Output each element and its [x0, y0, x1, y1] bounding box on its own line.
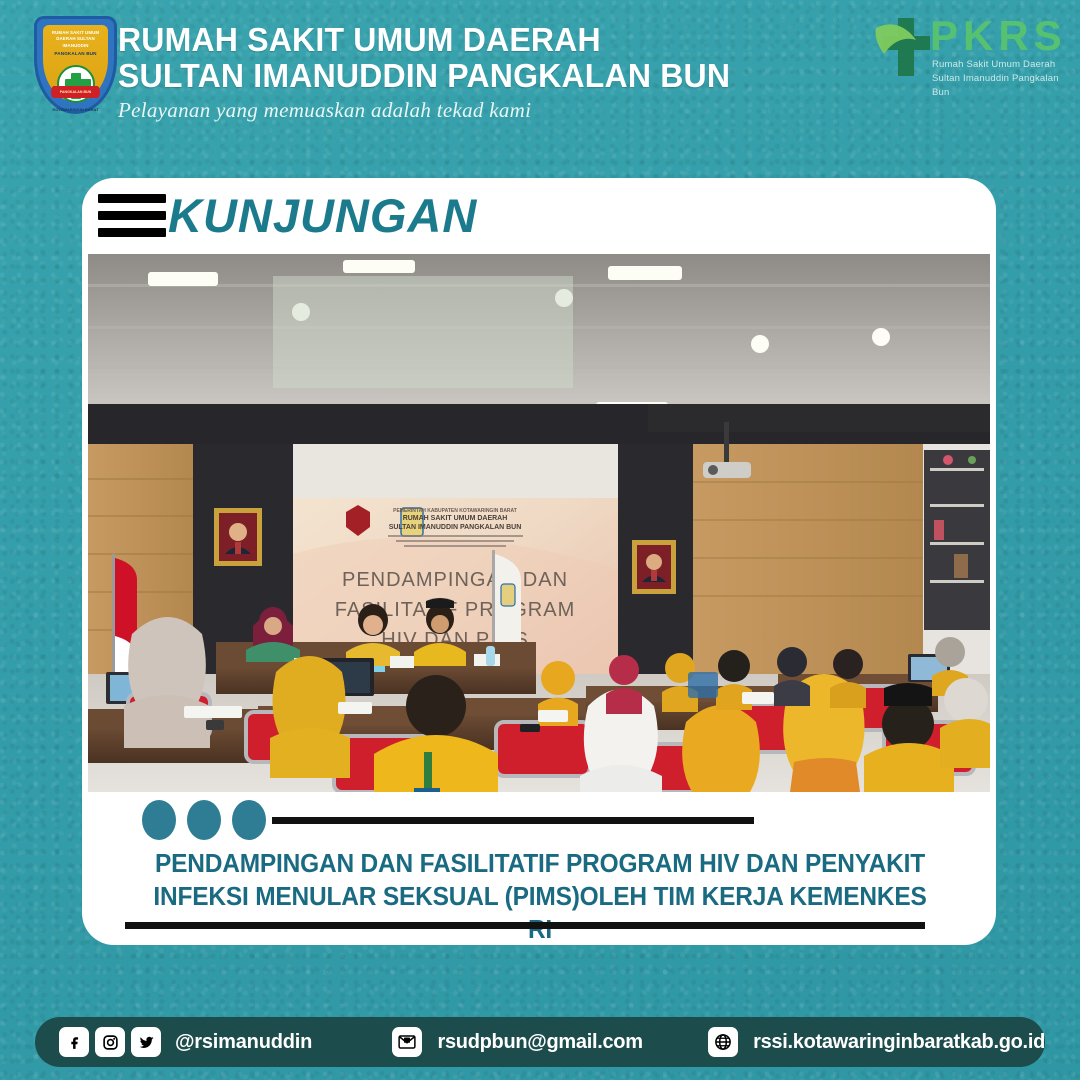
page-title: KUNJUNGAN — [168, 184, 477, 248]
twitter-icon[interactable] — [131, 1027, 161, 1057]
event-photo: PEMERINTAH KABUPATEN KOTAWARINGIN BARAT … — [88, 254, 990, 792]
hospital-name-line1: RUMAH SAKIT UMUM DAERAH — [118, 22, 730, 58]
pkrs-subtitle-line2: Sultan Imanuddin Pangkalan Bun — [932, 72, 1062, 100]
pkrs-subtitle: Rumah Sakit Umum Daerah Sultan Imanuddin… — [932, 58, 1062, 100]
pkrs-cross-swoosh-icon — [872, 16, 932, 78]
event-photo-illustration: PEMERINTAH KABUPATEN KOTAWARINGIN BARAT … — [88, 254, 990, 792]
shield-band-text: PANGKALAN BUN — [52, 51, 99, 56]
caption-block: PENDAMPINGAN DAN FASILITATIF PROGRAM HIV… — [82, 792, 996, 945]
svg-text:SULTAN IMANUDDIN PANGKALAN BUN: SULTAN IMANUDDIN PANGKALAN BUN — [389, 524, 522, 531]
caption-rule-bottom — [125, 922, 925, 929]
shield-ribbon: PANGKALAN BUN — [51, 86, 100, 98]
caption-line-2: INFEKSI MENULAR SEKSUAL (PIMS)OLEH TIM K… — [146, 881, 933, 945]
svg-text:PEMERINTAH KABUPATEN KOTAWARIN: PEMERINTAH KABUPATEN KOTAWARINGIN BARAT — [393, 508, 517, 514]
website-text: rssi.kotawaringinbaratkab.go.id — [753, 1031, 1045, 1054]
decorative-dots — [142, 800, 277, 840]
svg-text:RUMAH SAKIT UMUM DAERAH: RUMAH SAKIT UMUM DAERAH — [403, 515, 508, 522]
card-header: KUNJUNGAN — [82, 178, 996, 254]
caption-rule-top — [272, 817, 754, 824]
website-item[interactable]: rssi.kotawaringinbaratkab.go.id — [708, 1027, 1045, 1057]
email-text: rsudpbun@gmail.com — [437, 1031, 642, 1054]
hospital-name-line2: SULTAN IMANUDDIN PANGKALAN BUN — [118, 58, 730, 94]
shield-bottom-text: KOTAWARINGIN BARAT — [43, 107, 108, 112]
contact-footer-bar: @rsimanuddin rsudpbun@gmail.com — [35, 1017, 1045, 1067]
shield-top-text: RUMAH SAKIT UMUM DAERAH SULTAN IMANUDDIN — [43, 30, 108, 49]
facebook-icon[interactable] — [59, 1027, 89, 1057]
caption-line-1: PENDAMPINGAN DAN FASILITATIF PROGRAM HIV… — [146, 848, 933, 881]
instagram-icon[interactable] — [95, 1027, 125, 1057]
envelope-icon — [392, 1027, 422, 1057]
hospital-tagline: Pelayanan yang memuaskan adalah tekad ka… — [118, 98, 749, 123]
shield-ribbon-text: PANGKALAN BUN — [51, 86, 100, 98]
hospital-name-block: RUMAH SAKIT UMUM DAERAH SULTAN IMANUDDIN… — [118, 22, 749, 123]
pkrs-wordmark: PKRS — [930, 14, 1067, 58]
pkrs-logo: PKRS Rumah Sakit Umum Daerah Sultan Iman… — [872, 16, 1062, 92]
hospital-shield-logo-icon: RUMAH SAKIT UMUM DAERAH SULTAN IMANUDDIN… — [28, 12, 123, 117]
svg-text:PENDAMPINGAN DAN: PENDAMPINGAN DAN — [342, 569, 568, 591]
pkrs-subtitle-line1: Rumah Sakit Umum Daerah — [932, 58, 1062, 72]
page-header: RUMAH SAKIT UMUM DAERAH SULTAN IMANUDDIN… — [0, 0, 1080, 140]
content-card: KUNJUNGAN — [82, 178, 996, 945]
social-handle[interactable]: @rsimanuddin — [175, 1031, 312, 1054]
caption-text: PENDAMPINGAN DAN FASILITATIF PROGRAM HIV… — [146, 848, 933, 945]
email-item[interactable]: rsudpbun@gmail.com — [392, 1027, 642, 1057]
globe-icon — [708, 1027, 738, 1057]
hamburger-menu-icon[interactable] — [98, 194, 166, 238]
